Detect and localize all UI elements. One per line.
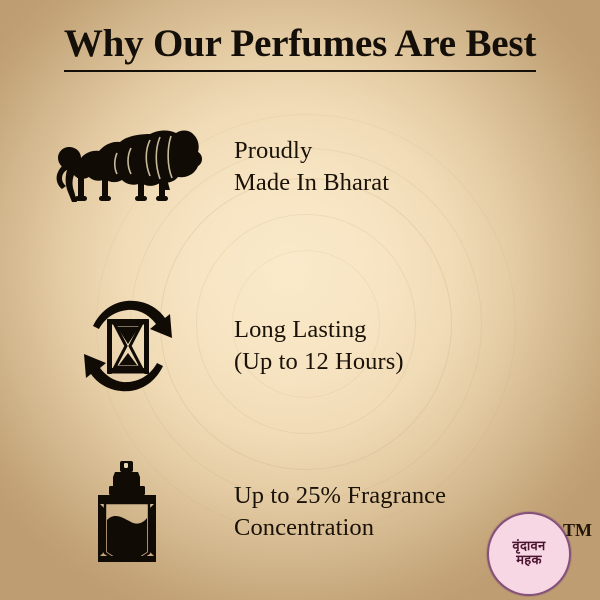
brand-circle[interactable]: वृंदावन महक <box>487 512 571 596</box>
feature-line-1: Up to 25% Fragrance <box>234 480 446 512</box>
feature-row-long-lasting: Long Lasting (Up to 12 Hours) <box>48 296 518 396</box>
hourglass-rotate-icon <box>48 296 208 396</box>
page-title: Why Our Perfumes Are Best <box>64 22 536 72</box>
feature-line-2: (Up to 12 Hours) <box>234 346 404 378</box>
feature-line-1: Proudly <box>234 135 389 167</box>
title-container: Why Our Perfumes Are Best <box>0 22 600 72</box>
feature-line-2: Concentration <box>234 512 446 544</box>
feature-text: Proudly Made In Bharat <box>234 135 389 200</box>
brand-name-line-2: महक <box>516 554 542 568</box>
feature-text: Up to 25% Fragrance Concentration <box>234 480 446 545</box>
feature-row-made-in-bharat: Proudly Made In Bharat <box>48 128 518 206</box>
lion-icon <box>48 128 208 206</box>
feature-row-fragrance-concentration: Up to 25% Fragrance Concentration <box>48 460 518 564</box>
feature-line-1: Long Lasting <box>234 314 404 346</box>
feature-text: Long Lasting (Up to 12 Hours) <box>234 314 404 379</box>
feature-line-2: Made In Bharat <box>234 167 389 199</box>
trademark-mark: TM <box>563 520 592 541</box>
perfume-bottle-icon <box>48 460 208 564</box>
brand-name-line-1: वृंदावन <box>512 540 545 554</box>
brand-logo[interactable]: वृंदावन महक TM <box>487 512 595 596</box>
poster-canvas: Why Our Perfumes Are Best <box>0 0 600 600</box>
